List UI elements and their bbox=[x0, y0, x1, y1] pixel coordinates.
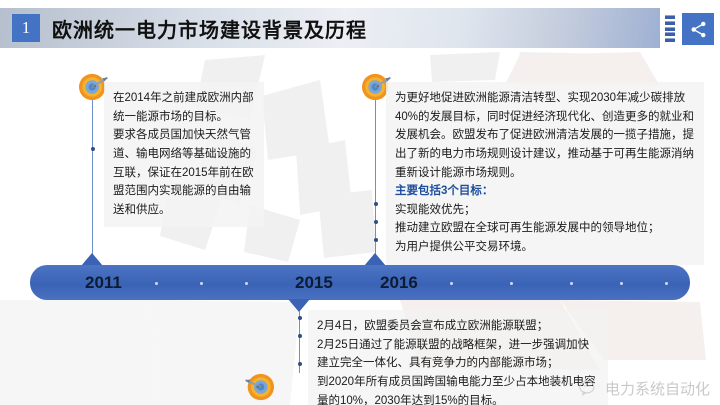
timeline-tick bbox=[510, 282, 513, 285]
timeline-tick bbox=[570, 282, 573, 285]
list-item: 到2020年所有成员国跨国输电能力至少占本地装机电容量的10%，2030年达到1… bbox=[317, 373, 599, 405]
panel-left-paragraph-2: 要求各成员国加快天然气管道、输电网络等基础设施的互联，保证在2015年前在欧盟范… bbox=[113, 126, 255, 219]
watermark-label: 电力系统自动化 bbox=[605, 378, 710, 399]
list-item: 2月25日通过了能源联盟的战略框架，进一步强调加快建立完全一体化、具有竞争力的内… bbox=[317, 336, 599, 373]
timeline-year-2011: 2011 bbox=[85, 273, 122, 293]
section-number-badge: 1 bbox=[12, 14, 40, 42]
panel-right: 为更好地促进欧洲能源清洁转型、实现2030年减少碳排放40%的发展目标，同时促进… bbox=[386, 82, 704, 265]
timeline-tick bbox=[665, 282, 668, 285]
connector-dot-right-1 bbox=[374, 202, 378, 206]
connector-dot-right-2 bbox=[374, 220, 378, 224]
list-item: 实现能效优先； bbox=[395, 201, 695, 220]
share-button[interactable] bbox=[682, 13, 714, 45]
target-dart-icon-bottom bbox=[243, 370, 277, 404]
timeline-tick bbox=[620, 282, 623, 285]
panel-right-highlight: 主要包括3个目标： bbox=[395, 182, 695, 201]
watermark: 电力系统自动化 bbox=[579, 378, 710, 399]
connector-dot-left bbox=[91, 147, 95, 151]
connector-dot-right-3 bbox=[374, 238, 378, 242]
list-item: 为用户提供公平交易环境。 bbox=[395, 238, 695, 257]
header-stripe-decoration bbox=[665, 15, 675, 42]
panel-right-paragraph-1: 为更好地促进欧洲能源清洁转型、实现2030年减少碳排放40%的发展目标，同时促进… bbox=[395, 89, 695, 182]
panel-bottom: 2月4日，欧盟委员会宣布成立欧洲能源联盟； 2月25日通过了能源联盟的战略框架，… bbox=[308, 310, 608, 405]
panel-left: 在2014年之前建成欧洲内部统一能源市场的目标。 要求各成员国加快天然气管道、输… bbox=[104, 82, 264, 227]
share-icon bbox=[689, 20, 708, 39]
timeline-tick bbox=[200, 282, 203, 285]
connector-line-left bbox=[92, 100, 93, 268]
timeline-year-2015: 2015 bbox=[295, 273, 333, 293]
timeline-bar: 2011 2015 2016 bbox=[30, 265, 690, 300]
connector-dot-bottom-2 bbox=[298, 334, 302, 338]
timeline-tick bbox=[155, 282, 158, 285]
list-item: 2月4日，欧盟委员会宣布成立欧洲能源联盟； bbox=[317, 317, 599, 336]
slide-header: 1 欧洲统一电力市场建设背景及历程 bbox=[0, 8, 720, 48]
list-item: 推动建立欧盟在全球可再生能源发展中的领导地位； bbox=[395, 219, 695, 238]
page-title: 欧洲统一电力市场建设背景及历程 bbox=[52, 8, 367, 48]
wechat-icon bbox=[579, 380, 599, 397]
connector-dot-bottom-1 bbox=[298, 316, 302, 320]
connector-line-right bbox=[375, 100, 376, 268]
timeline-tick bbox=[450, 282, 453, 285]
panel-right-goal-list: 实现能效优先； 推动建立欧盟在全球可再生能源发展中的领导地位； 为用户提供公平交… bbox=[395, 201, 695, 257]
panel-left-paragraph-1: 在2014年之前建成欧洲内部统一能源市场的目标。 bbox=[113, 89, 255, 126]
connector-dot-bottom-3 bbox=[298, 362, 302, 366]
slide-canvas: 1 欧洲统一电力市场建设背景及历程 bbox=[0, 0, 720, 405]
timeline-year-2016: 2016 bbox=[380, 273, 418, 293]
timeline-tick bbox=[245, 282, 248, 285]
